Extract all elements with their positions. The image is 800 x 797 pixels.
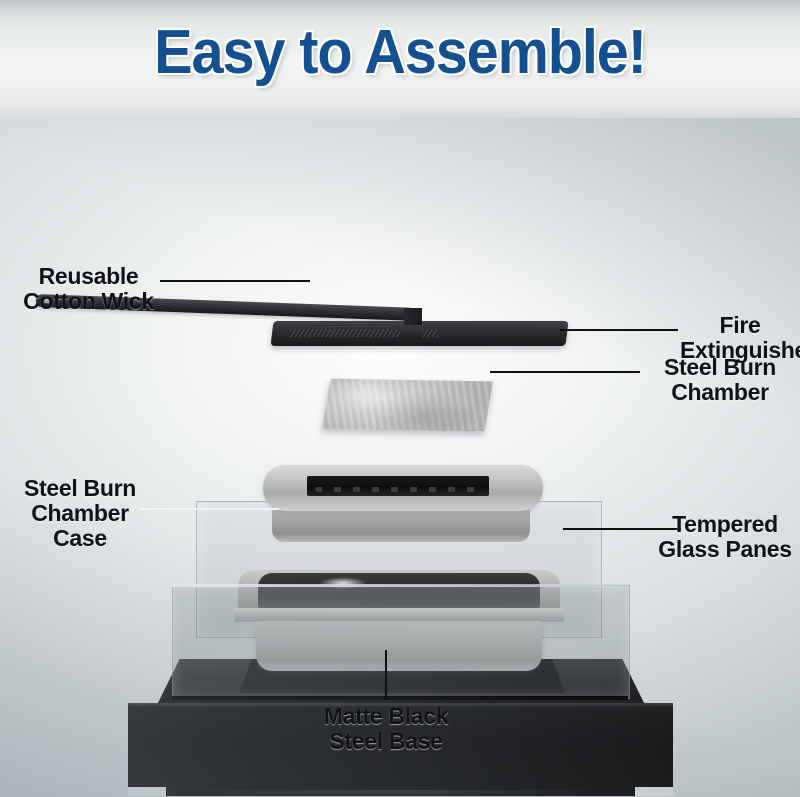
base-groove bbox=[172, 696, 628, 700]
callout-reusable-cotton-wick: Reusable Cotton Wick bbox=[16, 264, 161, 314]
callout-fire-extinguisher-line1: Fire bbox=[680, 313, 800, 338]
burn-chamber-slot bbox=[307, 476, 489, 496]
callout-steel-burn-chamber: Steel Burn Chamber bbox=[650, 355, 790, 405]
glass-pane-front bbox=[172, 585, 630, 699]
leader-line-fire-extinguisher bbox=[560, 329, 678, 331]
callout-steel-burn-chamber-line1: Steel Burn bbox=[650, 355, 790, 380]
callout-matte-black-steel-base: Matte Black Steel Base bbox=[306, 704, 466, 754]
callout-chamber-case-line3: Case bbox=[10, 526, 150, 551]
leader-line-steel-base bbox=[385, 650, 387, 700]
callout-tempered-glass-line2: Glass Panes bbox=[655, 537, 795, 562]
callout-steel-base-line2: Steel Base bbox=[306, 729, 466, 754]
leader-line-cotton-wick bbox=[160, 280, 310, 282]
burn-chamber-slot-holes bbox=[315, 487, 481, 492]
callout-steel-base-line1: Matte Black bbox=[306, 704, 466, 729]
page-title: Easy to Assemble! bbox=[28, 16, 772, 90]
cotton-wick-part bbox=[322, 379, 493, 432]
callout-cotton-wick-line2: Cotton Wick bbox=[16, 289, 161, 314]
callout-tempered-glass-line1: Tempered bbox=[655, 512, 795, 537]
header-top-shine bbox=[0, 0, 800, 10]
glass-pane-front-edge bbox=[172, 584, 628, 587]
callout-cotton-wick-line1: Reusable bbox=[16, 264, 161, 289]
product-diagram: Fire Extinguisher Reusable Cotton Wick S… bbox=[0, 118, 800, 797]
callout-steel-burn-chamber-line2: Chamber bbox=[650, 380, 790, 405]
infographic-canvas: Easy to Assemble! bbox=[0, 0, 800, 797]
cotton-wick-texture bbox=[322, 379, 493, 432]
callout-tempered-glass-panes: Tempered Glass Panes bbox=[655, 512, 795, 562]
callout-chamber-case-line2: Chamber bbox=[10, 501, 150, 526]
leader-line-steel-burn-chamber bbox=[490, 371, 640, 373]
callout-steel-burn-chamber-case: Steel Burn Chamber Case bbox=[10, 476, 150, 551]
callout-chamber-case-line1: Steel Burn bbox=[10, 476, 150, 501]
snuffer-knob bbox=[400, 325, 423, 339]
header-band: Easy to Assemble! bbox=[0, 0, 800, 118]
leader-line-chamber-case bbox=[139, 508, 279, 510]
base-drop-shadow bbox=[120, 790, 680, 797]
